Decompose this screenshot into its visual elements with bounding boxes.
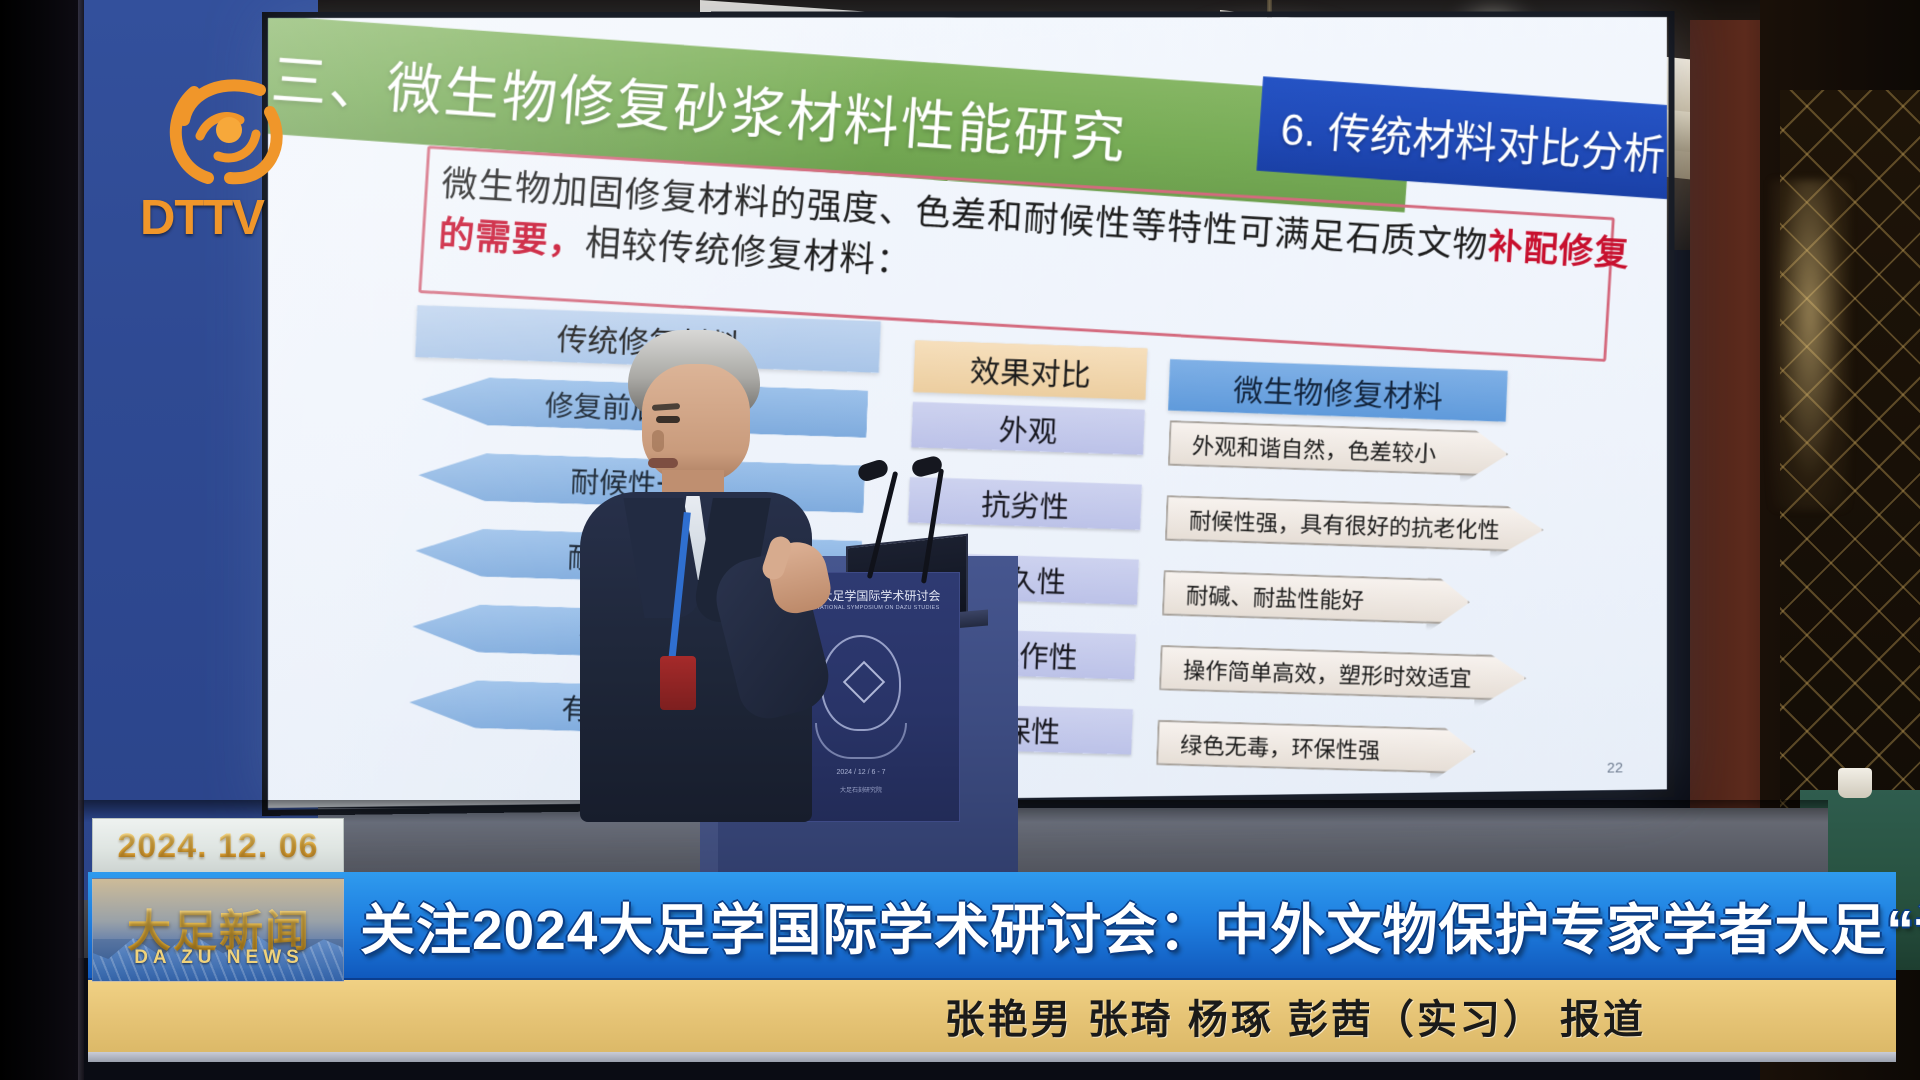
presenter-badge [660,656,696,710]
credit-underline [88,1052,1896,1062]
presenter-eye [656,416,680,423]
slide-section-title: 三、微生物修复砂浆材料性能研究 [268,32,1130,174]
wall-left-dark [0,0,78,1080]
credit-text: 张艳男 张琦 杨琢 彭茜（实习） 报道 [945,987,1646,1045]
table-row: 外观 [911,402,1145,455]
table-row: 绿色无毒，环保性强 [1156,720,1476,774]
headline-bar: 关注2024大足学国际学术研讨会：中外文物保护专家学者大足“论道” [88,872,1896,980]
presenter-nose [652,430,664,452]
table-row: 抗劣性 [908,477,1142,530]
slide-number: 22 [1607,760,1623,777]
table-row: 外观和谐自然，色差较小 [1168,420,1509,476]
table-row: 操作简单高效，塑形时效适宜 [1159,645,1527,701]
date-text: 2024. 12. 06 [117,827,318,866]
slide-subsection-title: 6. 传统材料对比分析 [1258,92,1667,183]
program-logo-en: DA ZU NEWS [93,947,344,969]
dttv-swirl-icon [164,74,294,192]
table-row: 耐碱、耐盐性能好 [1162,570,1471,625]
channel-bug-text: DTTV [140,190,330,246]
table-header-aspect: 效果对比 [913,340,1147,399]
table-row: 耐候性强，具有很好的抗老化性 [1165,495,1545,552]
tea-cup [1838,768,1872,798]
headline-text: 关注2024大足学国际学术研讨会：中外文物保护专家学者大足“论道” [360,885,1920,965]
mirror-reflection [1770,180,1850,510]
channel-bug: DTTV [140,74,330,246]
presenter-mouth [648,458,678,468]
credit-bar: 张艳男 张琦 杨琢 彭茜（实习） 报道 [88,980,1896,1052]
table-header-microbial: 微生物修复材料 [1168,359,1508,422]
presenter-speaker [556,330,836,810]
date-chip: 2024. 12. 06 [92,818,344,874]
program-logo: 大足新闻 DA ZU NEWS [92,878,344,982]
